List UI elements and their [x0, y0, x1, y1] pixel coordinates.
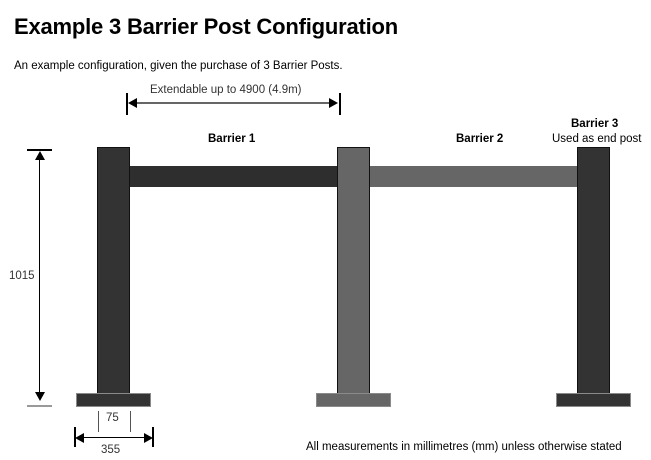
barrier-2-band	[360, 166, 585, 187]
height-bottom-tick	[27, 405, 52, 407]
page-title: Example 3 Barrier Post Configuration	[14, 14, 398, 40]
base-width-arrow-right	[144, 433, 153, 443]
barrier-1-label: Barrier 1	[208, 133, 255, 145]
barrier-post-2	[337, 147, 370, 395]
barrier-post-3	[577, 147, 610, 395]
extendable-line	[133, 102, 333, 104]
measurement-note: All measurements in millimetres (mm) unl…	[306, 441, 622, 453]
height-arrow-up	[35, 151, 45, 160]
barrier-3-sublabel: Used as end post	[552, 133, 642, 145]
barrier-post-2-base	[316, 393, 391, 407]
barrier-3-label: Barrier 3	[571, 118, 618, 130]
extendable-dimension-label: Extendable up to 4900 (4.9m)	[150, 84, 302, 96]
post-width-left-tick	[98, 411, 99, 432]
height-arrow-down	[35, 392, 45, 401]
diagram-page: Example 3 Barrier Post Configuration An …	[0, 0, 651, 460]
base-width-label: 355	[101, 444, 120, 456]
barrier-2-label: Barrier 2	[456, 133, 503, 145]
post-width-right-tick	[130, 411, 131, 432]
barrier-post-1	[97, 147, 130, 395]
extendable-arrow-right	[329, 98, 338, 108]
page-subtitle: An example configuration, given the purc…	[14, 60, 343, 72]
extendable-right-tick	[339, 93, 341, 115]
barrier-post-1-base	[76, 393, 151, 407]
barrier-post-3-base	[556, 393, 631, 407]
base-width-line	[79, 437, 148, 438]
extendable-arrow-left	[128, 98, 137, 108]
base-width-arrow-left	[75, 433, 84, 443]
post-width-label: 75	[106, 412, 119, 424]
height-dimension-label: 1015	[9, 270, 35, 282]
height-line	[39, 155, 40, 398]
barrier-1-band	[122, 166, 347, 187]
